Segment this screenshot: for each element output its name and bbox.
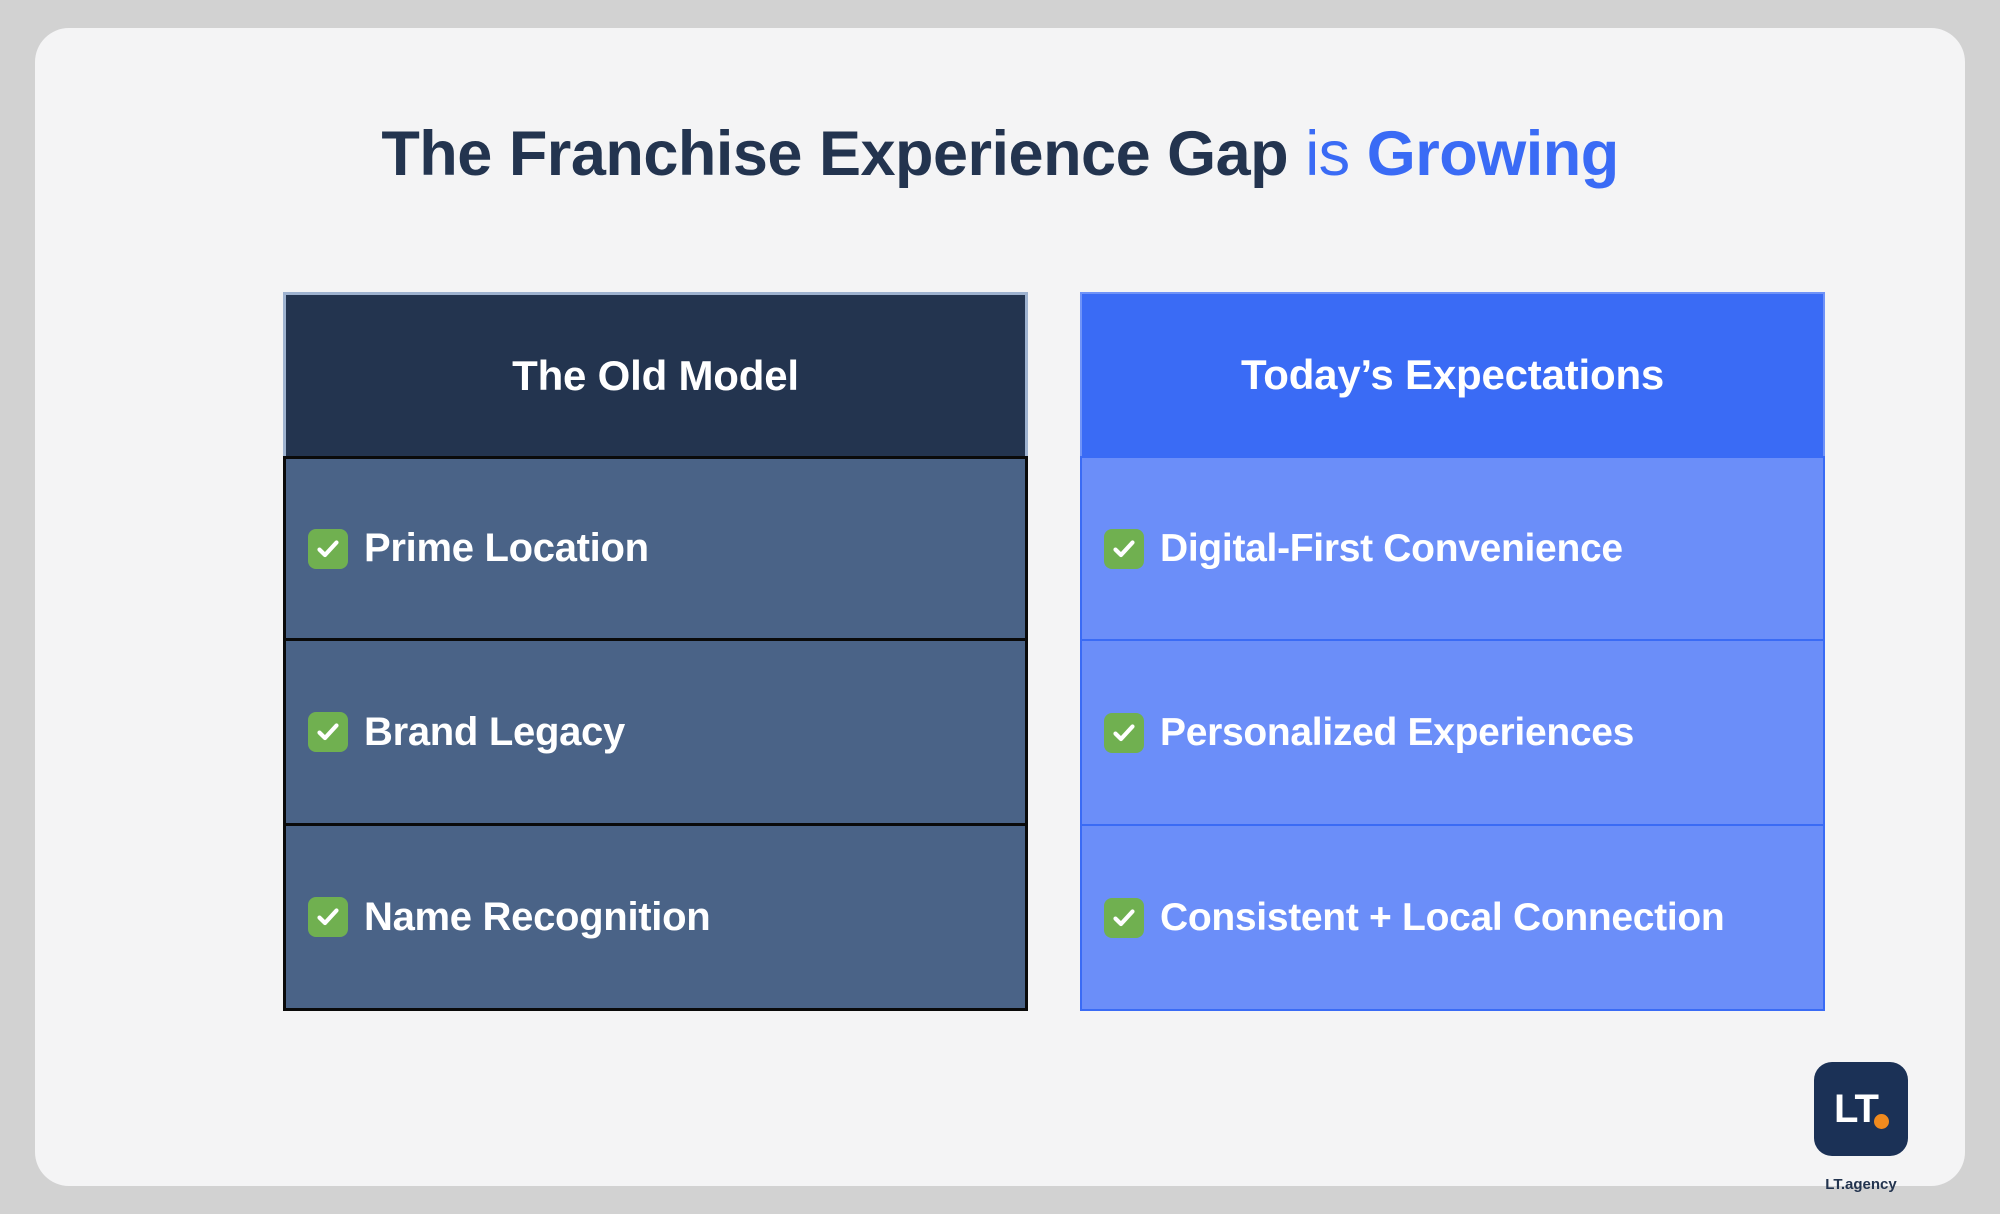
column-body-old-model: Prime Location Brand Legacy Name Recogni… [283,456,1028,1011]
logo-letters: LT [1814,1062,1908,1156]
list-item[interactable]: Consistent + Local Connection [1080,826,1825,1011]
list-item-label: Personalized Experiences [1160,711,1634,755]
slide-card: The Franchise Experience Gap is Growing … [35,28,1965,1186]
lt-logo-icon: LT [1814,1062,1908,1156]
column-header-label: The Old Model [512,352,799,400]
column-header-todays-expectations: Today’s Expectations [1080,292,1825,456]
check-box-icon [308,712,348,752]
list-item-label: Prime Location [364,526,649,571]
list-item[interactable]: Name Recognition [283,826,1028,1011]
check-box-icon [308,529,348,569]
list-item[interactable]: Prime Location [283,456,1028,641]
logo-dot-icon [1874,1114,1889,1129]
column-body-todays-expectations: Digital-First Convenience Personalized E… [1080,456,1825,1011]
list-item-label: Consistent + Local Connection [1160,896,1724,940]
title-connector-text: is [1305,119,1350,189]
check-box-icon [1104,529,1144,569]
list-item-label: Digital-First Convenience [1160,527,1623,571]
list-item[interactable]: Personalized Experiences [1080,641,1825,826]
check-box-icon [308,897,348,937]
list-item-label: Brand Legacy [364,710,625,755]
brand-caption: LT.agency [1814,1176,1908,1193]
list-item[interactable]: Digital-First Convenience [1080,456,1825,641]
title-primary-text: The Franchise Experience Gap [381,119,1288,189]
list-item[interactable]: Brand Legacy [283,641,1028,826]
column-header-old-model: The Old Model [283,292,1028,456]
check-box-icon [1104,713,1144,753]
comparison-column-todays-expectations: Today’s Expectations Digital-First Conve… [1080,292,1825,1011]
check-box-icon [1104,898,1144,938]
title-highlight-text: Growing [1367,119,1619,189]
column-header-label: Today’s Expectations [1241,351,1664,399]
comparison-column-old-model: The Old Model Prime Location Brand Legac… [283,292,1028,1011]
page-title: The Franchise Experience Gap is Growing [35,118,1965,190]
list-item-label: Name Recognition [364,895,710,940]
brand-logo[interactable]: LT LT.agency [1814,1062,1908,1193]
